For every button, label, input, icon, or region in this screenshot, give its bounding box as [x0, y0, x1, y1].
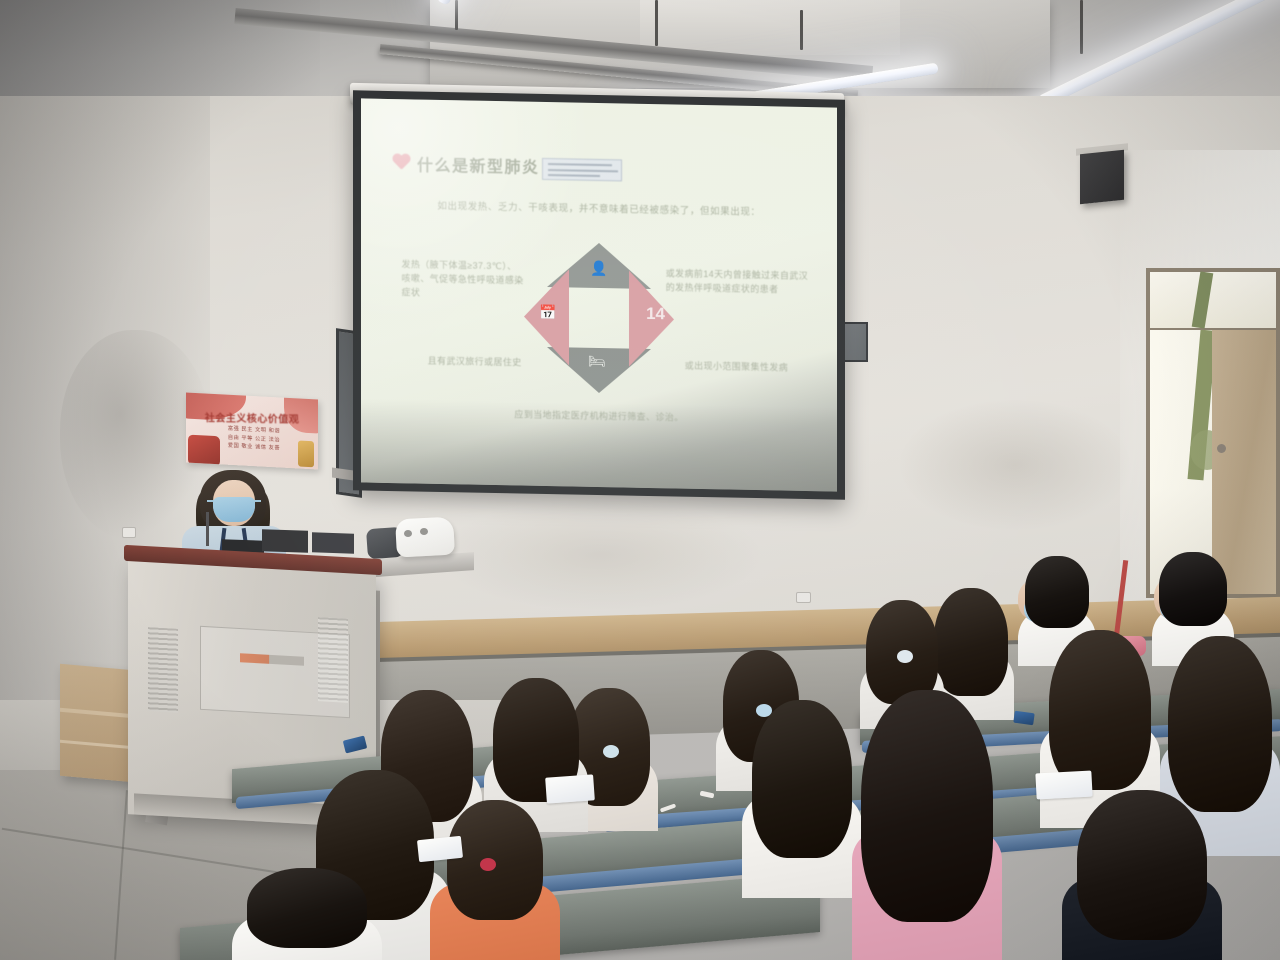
paper-sheet [545, 774, 595, 803]
student-seated [852, 690, 1002, 960]
paper-sheet [417, 836, 463, 862]
phone-icon[interactable] [343, 736, 367, 754]
student-seating-area [0, 0, 1280, 960]
pen-icon [660, 803, 676, 812]
hair-scrunchie [480, 858, 496, 871]
student-seated [742, 700, 862, 880]
student-hair [447, 800, 543, 920]
pen-icon [700, 791, 715, 799]
student-hair [1159, 552, 1227, 626]
student-hair [861, 690, 993, 922]
hair-scrunchie [603, 745, 619, 758]
student-hair [1025, 556, 1089, 628]
student-hair [1049, 630, 1151, 790]
student-hair [247, 868, 367, 948]
phone-icon[interactable] [1013, 711, 1034, 726]
student-seated [232, 868, 382, 960]
student-hair [1077, 790, 1207, 940]
student-seated [1062, 790, 1222, 960]
hair-scrunchie [897, 650, 913, 663]
student-hair [752, 700, 852, 858]
student-seated [430, 800, 560, 960]
student-hair [934, 588, 1008, 696]
student-hair [1168, 636, 1272, 812]
classroom-photo: 什么是新型肺炎 如出现发热、乏力、干咳表现，并不意味着已经被感染了，但如果出现：… [0, 0, 1280, 960]
